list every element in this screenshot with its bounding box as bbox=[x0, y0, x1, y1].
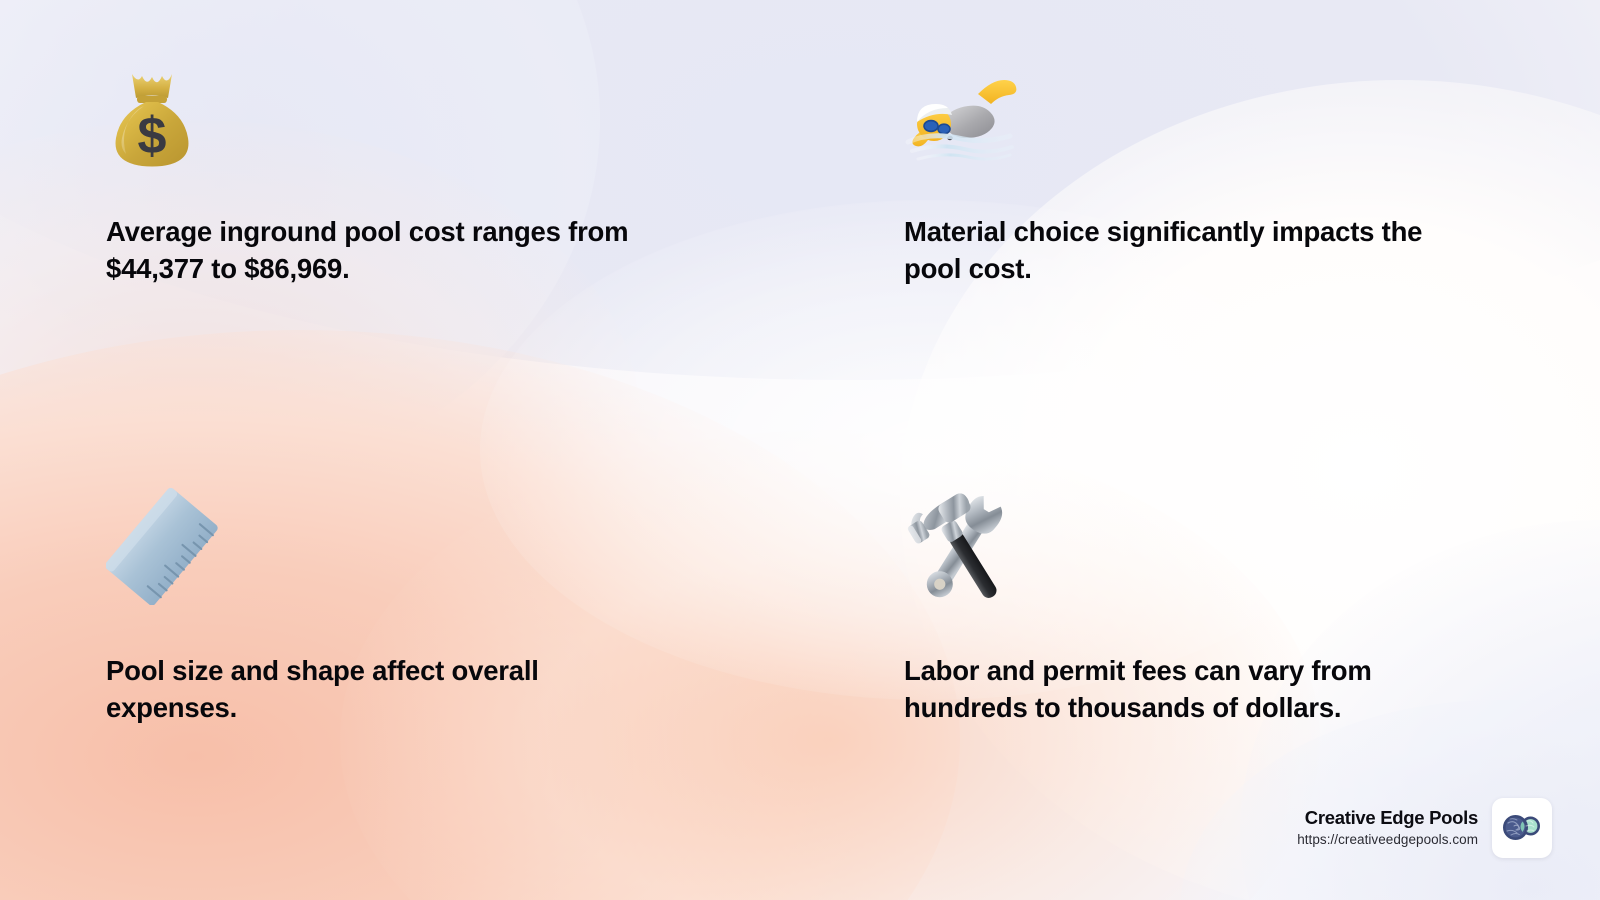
brand-logo-badge[interactable] bbox=[1492, 798, 1552, 858]
straight-ruler-icon bbox=[106, 487, 706, 605]
money-bag-icon: $ bbox=[106, 66, 706, 170]
card-heading: Labor and permit fees can vary from hund… bbox=[904, 653, 1449, 726]
card-heading: Average inground pool cost ranges from $… bbox=[106, 214, 676, 287]
svg-text:$: $ bbox=[138, 107, 167, 165]
card-heading: Material choice significantly impacts th… bbox=[904, 214, 1449, 287]
infographic-grid: $ Average inground pool cost ranges from… bbox=[0, 0, 1600, 900]
hammer-and-wrench-icon bbox=[904, 487, 1504, 607]
branding-text: Creative Edge Pools https://creativeedge… bbox=[1297, 808, 1478, 848]
infographic-card-material-choice: Material choice significantly impacts th… bbox=[904, 66, 1504, 287]
branding-footer: Creative Edge Pools https://creativeedge… bbox=[1297, 798, 1552, 858]
creative-edge-pools-logo-icon bbox=[1499, 805, 1545, 851]
brand-url: https://creativeedgepools.com bbox=[1297, 833, 1478, 848]
swimmer-icon bbox=[904, 66, 1504, 170]
card-heading: Pool size and shape affect overall expen… bbox=[106, 653, 676, 726]
infographic-card-size-shape: Pool size and shape affect overall expen… bbox=[106, 487, 706, 726]
infographic-card-cost-range: $ Average inground pool cost ranges from… bbox=[106, 66, 706, 287]
infographic-card-labor-permits: Labor and permit fees can vary from hund… bbox=[904, 487, 1504, 726]
brand-name: Creative Edge Pools bbox=[1305, 808, 1478, 828]
